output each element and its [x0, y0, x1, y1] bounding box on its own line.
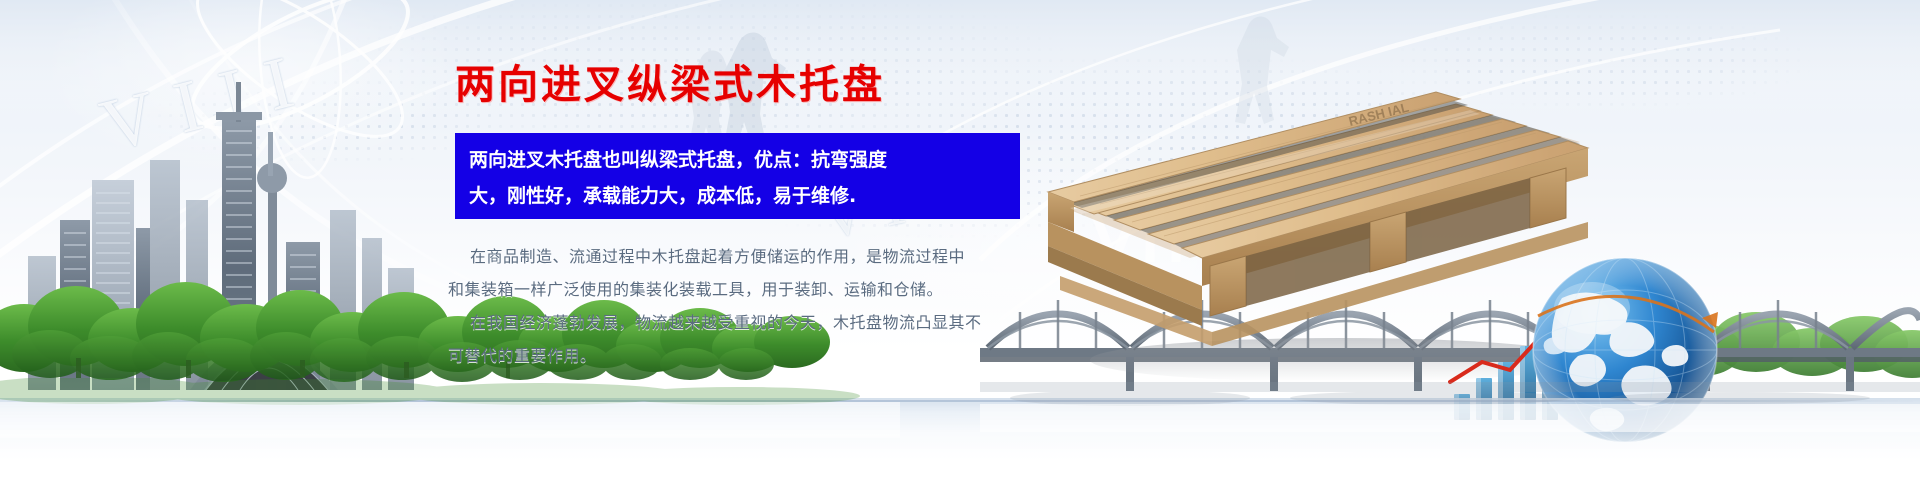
banner-description: 在商品制造、流通过程中木托盘起着方便储运的作用，是物流过程中 和集装箱一样广泛使…: [448, 240, 1048, 372]
highlight-line-2: 大，刚性好，承载能力大，成本低，易于维修.: [469, 178, 1006, 214]
description-line-3: 在我国经济蓬勃发展，物流越来越受重视的今天，木托盘物流凸显其不: [448, 306, 1048, 339]
highlight-line-1: 两向进叉木托盘也叫纵梁式托盘，优点：抗弯强度: [469, 142, 1006, 178]
description-line-2: 和集装箱一样广泛使用的集装化装载工具，用于装卸、运输和仓储。: [448, 273, 1048, 306]
tree-reflection: [0, 378, 900, 438]
highlight-text-box: 两向进叉木托盘也叫纵梁式托盘，优点：抗弯强度 大，刚性好，承载能力大，成本低，易…: [455, 133, 1020, 219]
description-line-1: 在商品制造、流通过程中木托盘起着方便储运的作用，是物流过程中: [448, 240, 1048, 273]
banner-title: 两向进叉纵梁式木托盘: [455, 52, 885, 110]
description-line-4: 可替代的重要作用。: [448, 339, 1048, 372]
product-banner: VIII VII: [0, 0, 1920, 500]
bridge-reflection: [980, 382, 1920, 432]
